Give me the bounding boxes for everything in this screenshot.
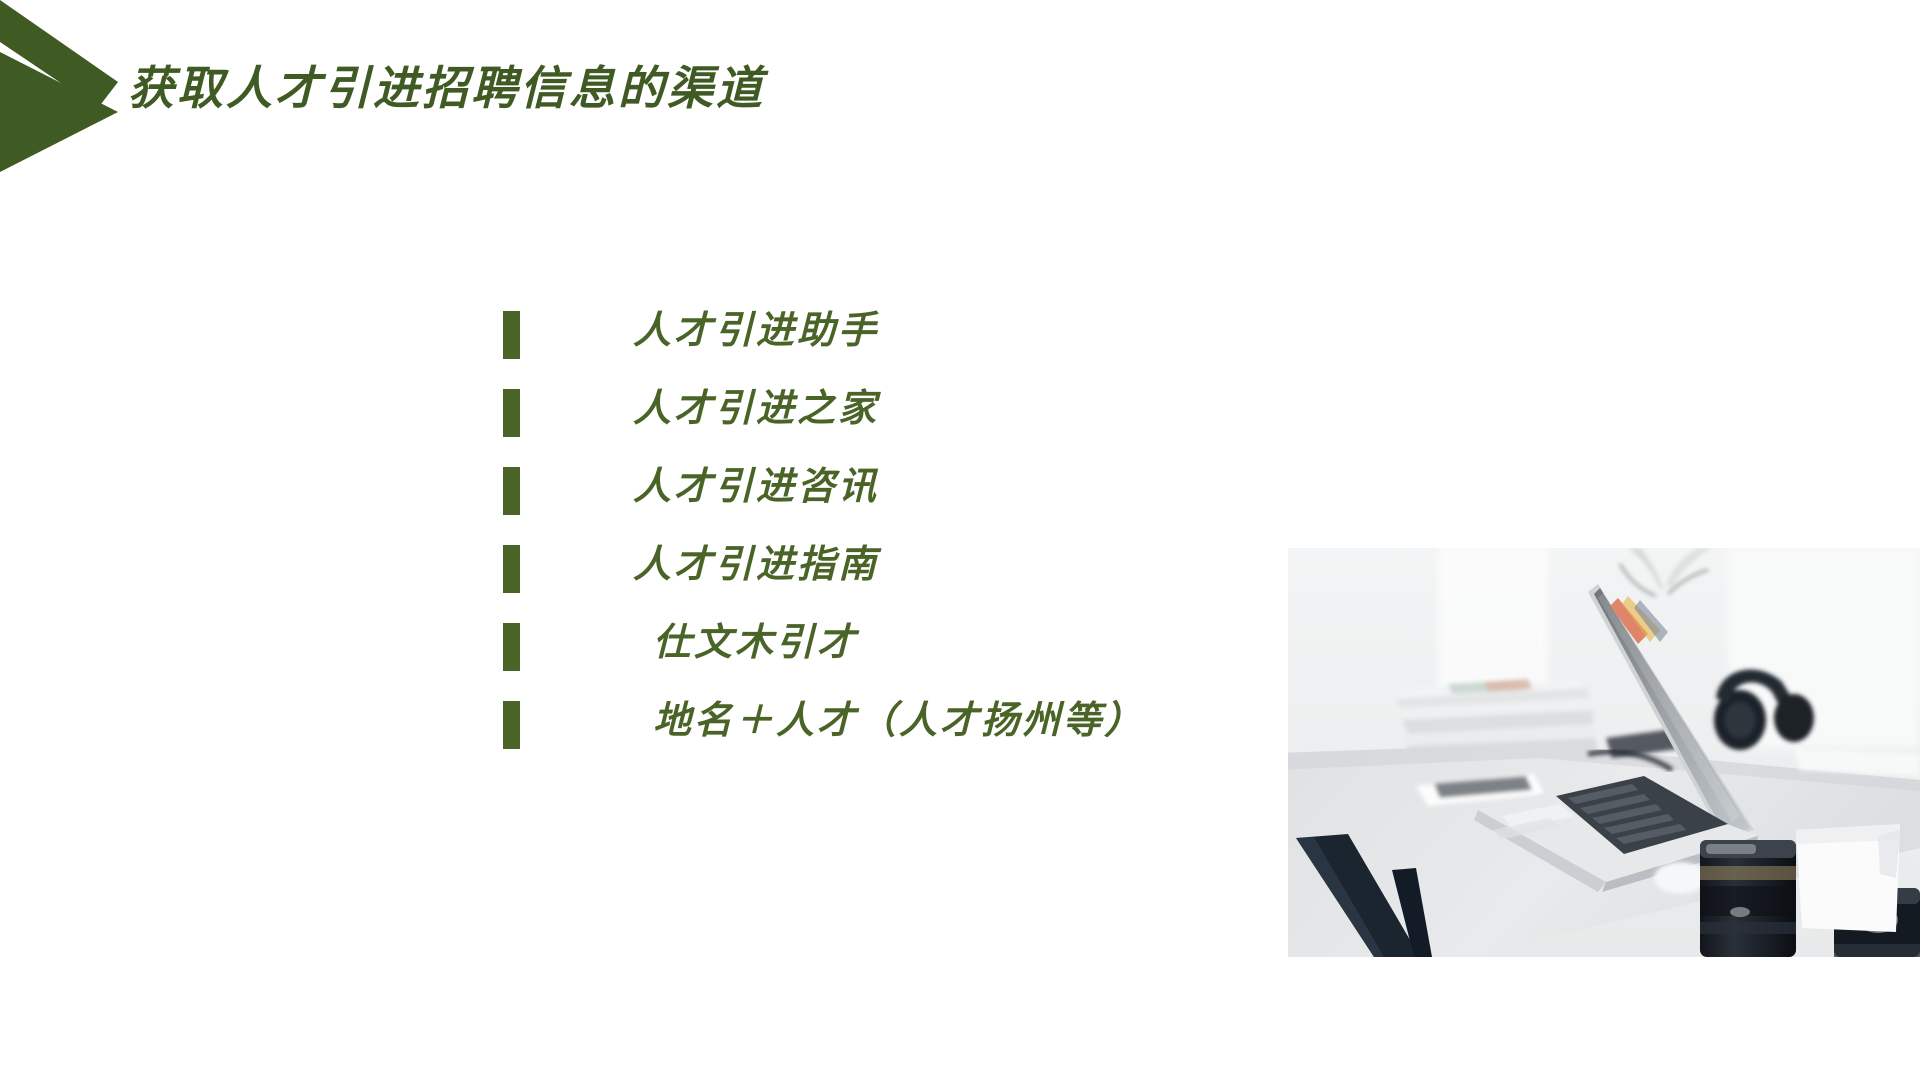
bullet-bar-icon xyxy=(503,467,520,515)
bullet-bar-icon xyxy=(503,623,520,671)
list-item[interactable]: 人才引进咨讯 xyxy=(503,456,1263,534)
bullet-bar-icon xyxy=(503,545,520,593)
list-item[interactable]: 地名＋人才（人才扬州等） xyxy=(503,690,1263,768)
bullet-bar-icon xyxy=(503,701,520,749)
channel-list: 人才引进助手 人才引进之家 人才引进咨讯 人才引进指南 仕文木引才 地名＋人才（… xyxy=(503,300,1263,768)
list-item-label: 人才引进咨讯 xyxy=(633,456,879,516)
desk-photo xyxy=(1288,548,1920,957)
bullet-bar-icon xyxy=(503,389,520,437)
list-item-label: 仕文木引才 xyxy=(653,612,858,672)
list-item-label: 人才引进助手 xyxy=(633,300,879,360)
list-item-label: 人才引进指南 xyxy=(633,534,879,594)
list-item[interactable]: 人才引进之家 xyxy=(503,378,1263,456)
page-title: 获取人才引进招聘信息的渠道 xyxy=(128,62,765,115)
bullet-bar-icon xyxy=(503,311,520,359)
list-item-label: 地名＋人才（人才扬州等） xyxy=(653,690,1145,750)
list-item[interactable]: 人才引进指南 xyxy=(503,534,1263,612)
corner-arrow-icon xyxy=(0,0,120,172)
list-item[interactable]: 人才引进助手 xyxy=(503,300,1263,378)
list-item-label: 人才引进之家 xyxy=(633,378,879,438)
list-item[interactable]: 仕文木引才 xyxy=(503,612,1263,690)
